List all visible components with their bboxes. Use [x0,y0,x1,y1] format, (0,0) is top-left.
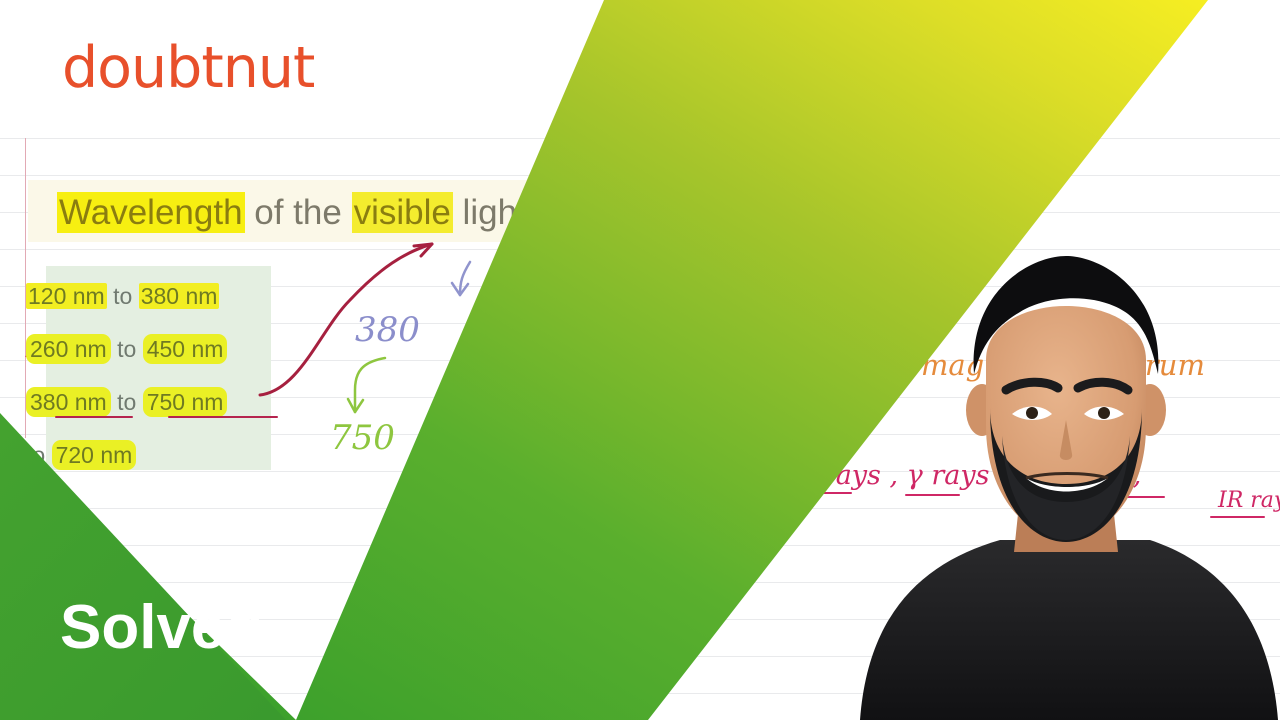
video-thumbnail: doubtnut Wavelength of the visible light… [0,0,1280,720]
presenter-photo [850,240,1280,720]
solved-badge: Solved [60,592,263,663]
